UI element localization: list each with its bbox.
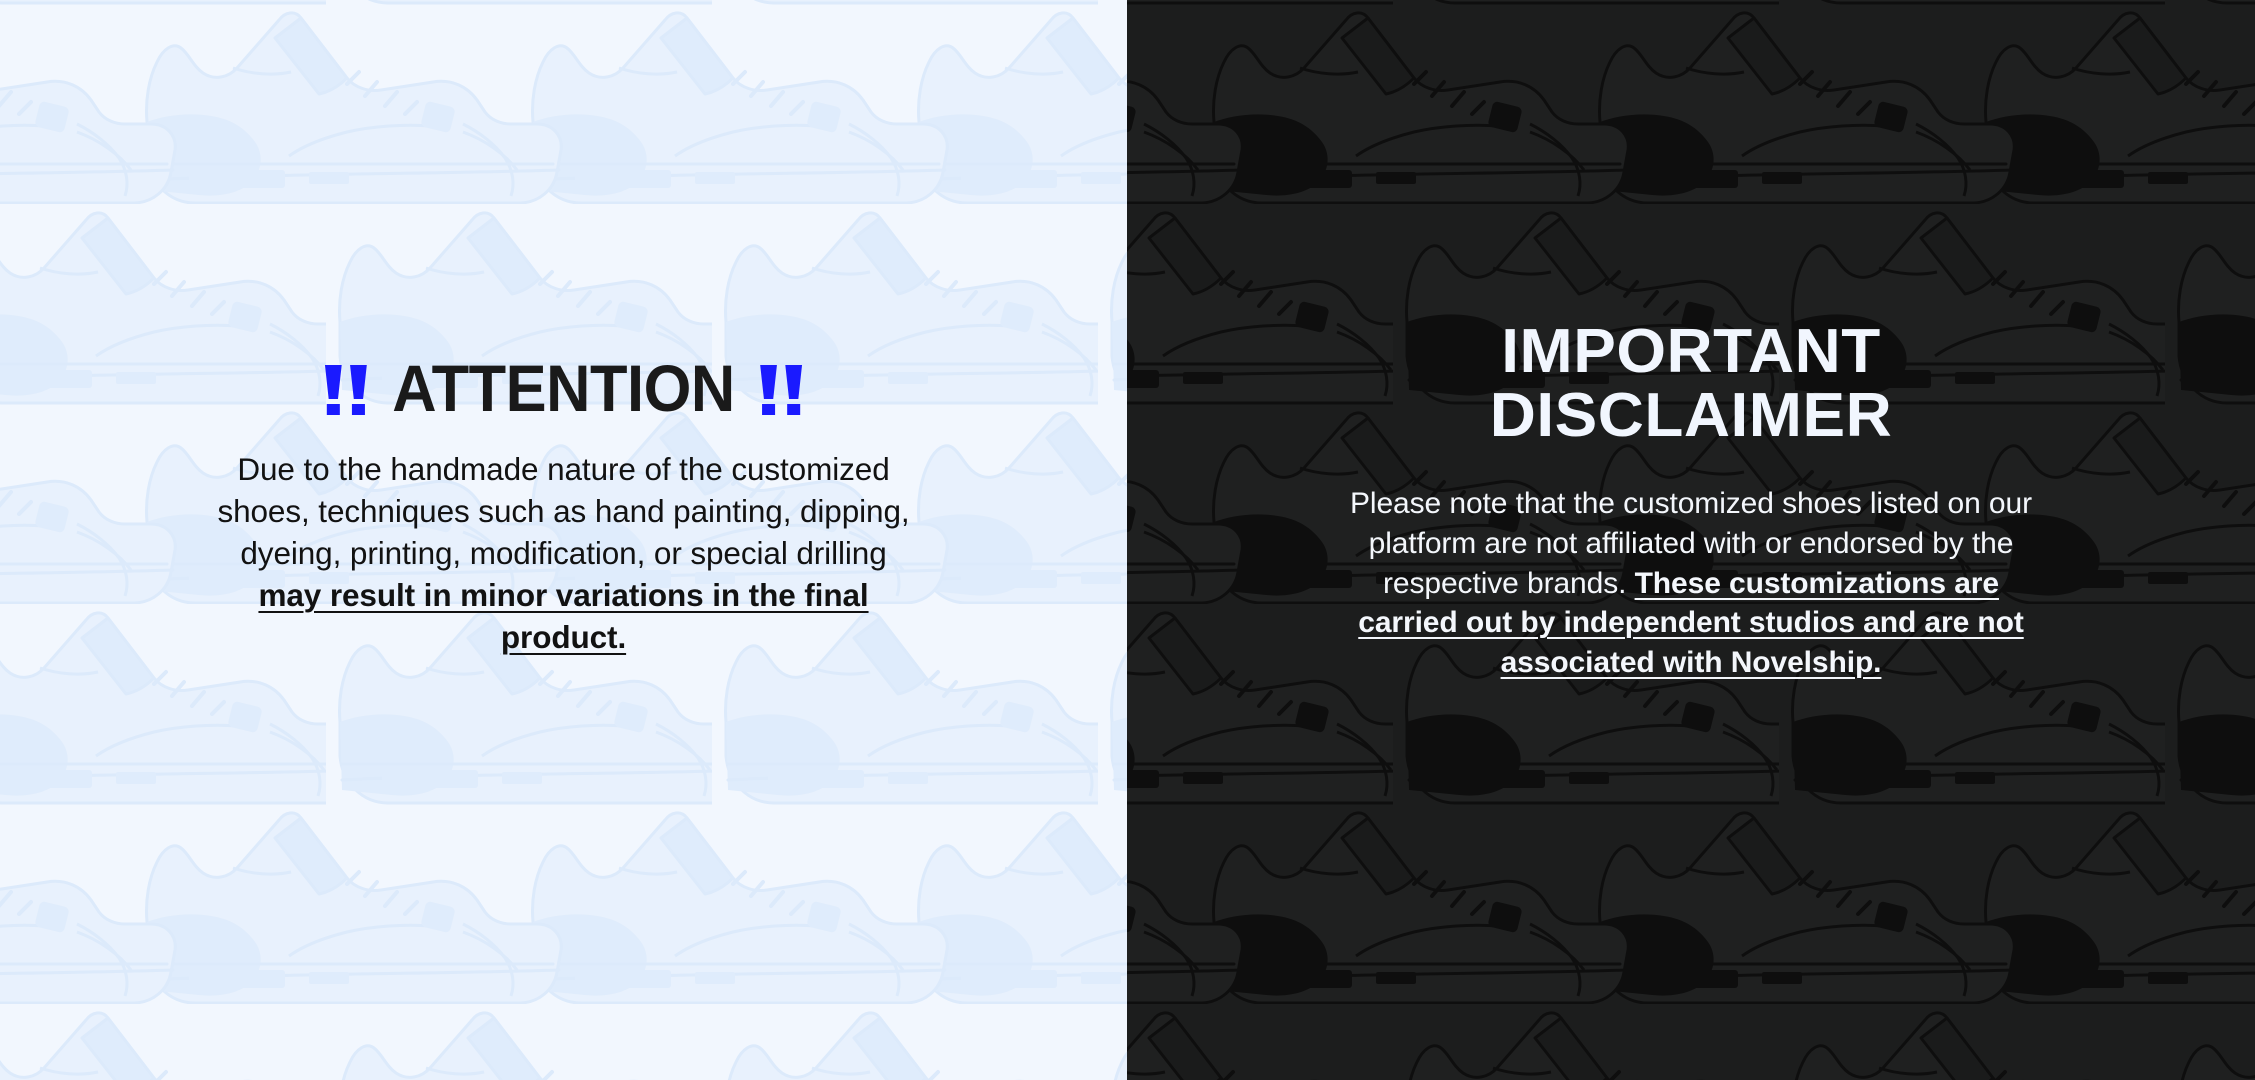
attention-heading-text: ATTENTION: [392, 355, 734, 421]
attention-body: Due to the handmade nature of the custom…: [214, 449, 914, 658]
attention-body-normal: Due to the handmade nature of the custom…: [217, 451, 909, 571]
disclaimer-heading: IMPORTANT DISCLAIMER: [1127, 320, 2255, 448]
disclaimer-body: Please note that the customized shoes li…: [1341, 484, 2041, 683]
double-exclamation-icon-left: [324, 365, 368, 415]
double-exclamation-icon-right: [759, 365, 803, 415]
attention-content: ATTENTION Due to the handmade nature of …: [0, 0, 1127, 658]
disclaimer-panel: IMPORTANT DISCLAIMER Please note that th…: [1127, 0, 2255, 1080]
attention-heading: ATTENTION: [39, 355, 1087, 421]
disclaimer-content: IMPORTANT DISCLAIMER Please note that th…: [1127, 0, 2255, 683]
attention-panel: ATTENTION Due to the handmade nature of …: [0, 0, 1127, 1080]
attention-body-emphasis: may result in minor variations in the fi…: [258, 577, 868, 655]
